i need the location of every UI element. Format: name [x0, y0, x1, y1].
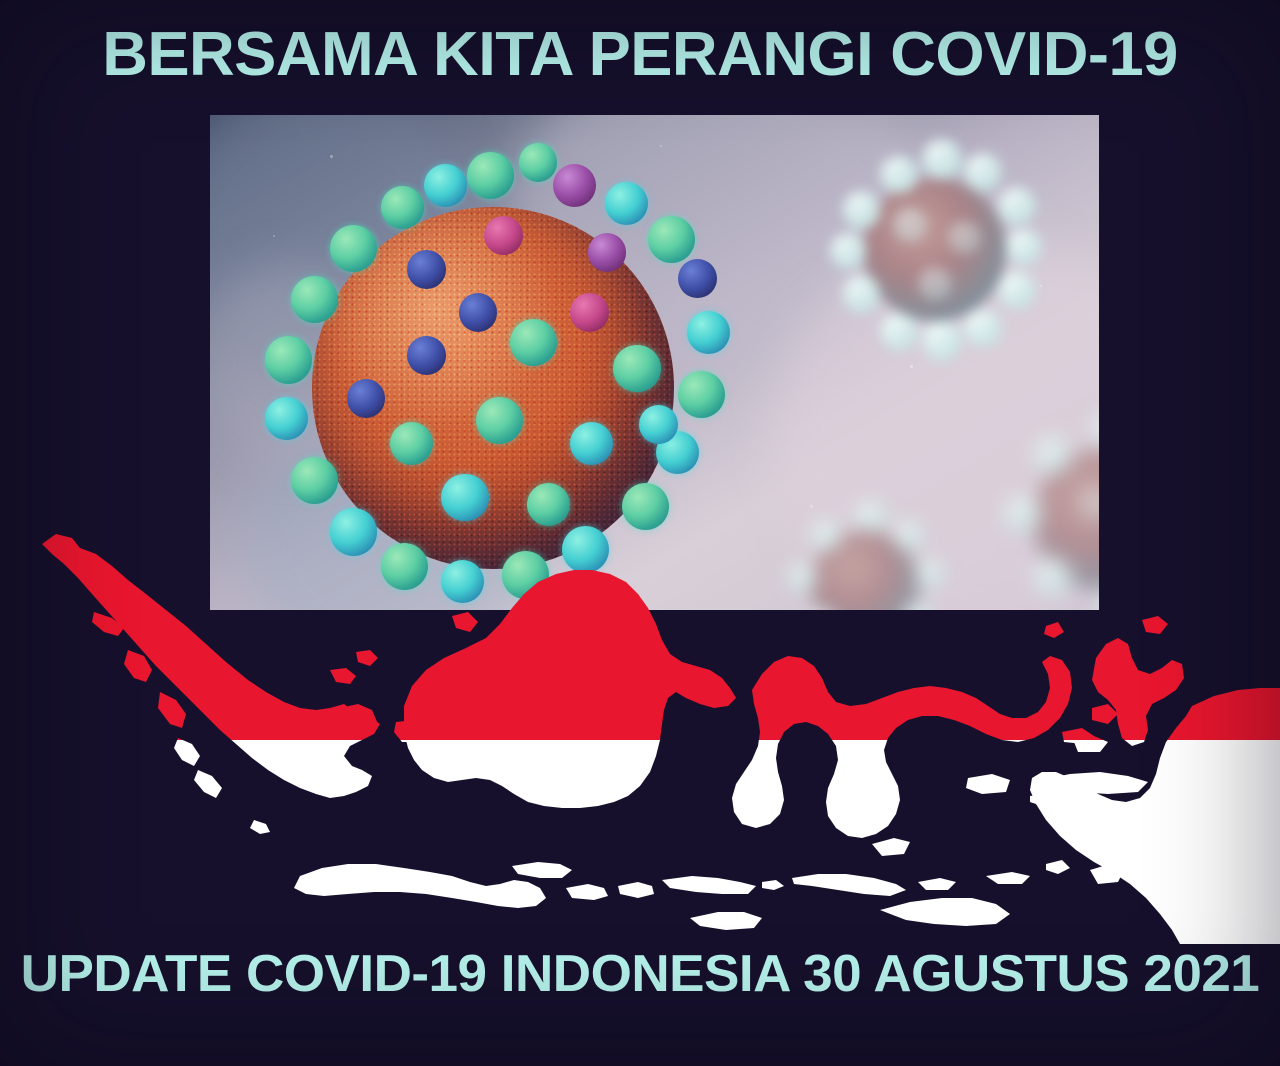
island-morotai: [1142, 616, 1168, 634]
island-sangihe: [1044, 622, 1064, 638]
island-pagai: [194, 770, 222, 798]
virion-spike: [1092, 411, 1099, 451]
spike-protein: [570, 293, 609, 332]
dust-speck: [1040, 285, 1042, 287]
spike-protein: [588, 233, 627, 272]
island-wetar: [986, 872, 1030, 884]
island-sumbawa: [662, 876, 756, 894]
spike-protein: [605, 182, 648, 225]
virion-spike: [998, 187, 1036, 225]
spike-protein: [484, 216, 523, 255]
island-java: [294, 864, 546, 908]
dust-speck: [660, 145, 662, 147]
spike-protein: [381, 186, 424, 229]
island-bali: [566, 884, 608, 900]
virion-spike: [922, 139, 962, 179]
island-riau-cluster: [330, 668, 356, 684]
virion-spike: [843, 191, 881, 229]
island-lombok: [618, 882, 654, 898]
virion-spike: [964, 309, 1002, 347]
spike-protein: [330, 225, 377, 272]
island-siberut: [158, 692, 186, 728]
spike-protein: [476, 397, 523, 444]
spike-protein: [519, 143, 558, 182]
spike-protein: [687, 311, 730, 354]
island-timor: [880, 898, 1010, 926]
island-komodo: [762, 880, 784, 890]
spike-protein: [424, 164, 467, 207]
virion-spike: [830, 233, 866, 269]
virion-spike: [1034, 436, 1072, 474]
island-babar: [1046, 860, 1070, 874]
island-buru: [966, 774, 1010, 794]
spike-protein: [459, 293, 498, 332]
spike-protein: [265, 397, 308, 440]
island-sumba: [690, 912, 762, 930]
dust-speck: [330, 155, 333, 158]
island-flores: [792, 874, 906, 896]
spike-protein: [553, 164, 596, 207]
virion-spike: [998, 271, 1036, 309]
island-sulawesi: [732, 656, 1072, 838]
spike-protein: [407, 336, 446, 375]
island-buton: [872, 838, 910, 856]
island-sumatra: [42, 534, 380, 798]
spike-protein: [265, 336, 312, 383]
virion-spike: [1006, 229, 1042, 265]
covid-poster: BERSAMA KITA PERANGI COVID-19: [0, 0, 1280, 1066]
spike-protein: [467, 152, 514, 199]
spike-protein: [648, 216, 695, 263]
island-kalimantan: [404, 570, 736, 808]
virion-spike: [843, 275, 881, 313]
page-title: BERSAMA KITA PERANGI COVID-19: [0, 24, 1280, 86]
island-sipura: [174, 738, 200, 766]
island-madura: [512, 862, 572, 878]
virion-spike: [893, 208, 927, 242]
island-enggano: [250, 820, 270, 834]
spike-protein: [407, 250, 446, 289]
dust-speck: [910, 365, 913, 368]
spike-protein: [678, 259, 717, 298]
virion-spike: [964, 153, 1002, 191]
virion-spike: [880, 313, 918, 351]
spike-protein: [678, 371, 725, 418]
island-batam: [356, 650, 378, 666]
island-alor: [918, 878, 956, 890]
virion-spike: [948, 221, 982, 255]
island-halmahera: [1092, 638, 1184, 746]
dust-speck: [273, 235, 275, 237]
spike-protein: [613, 345, 660, 392]
indonesia-map: [0, 494, 1280, 944]
map-landmass-group: [42, 534, 1280, 944]
virion-spike: [880, 156, 918, 194]
background-virion: [830, 145, 1040, 355]
virion-spike: [918, 267, 952, 301]
spike-protein: [390, 422, 433, 465]
footer-caption: UPDATE COVID-19 INDONESIA 30 AGUSTUS 202…: [0, 948, 1280, 1000]
island-natuna: [452, 612, 478, 632]
spike-protein: [639, 405, 678, 444]
virion-spike: [922, 321, 962, 361]
